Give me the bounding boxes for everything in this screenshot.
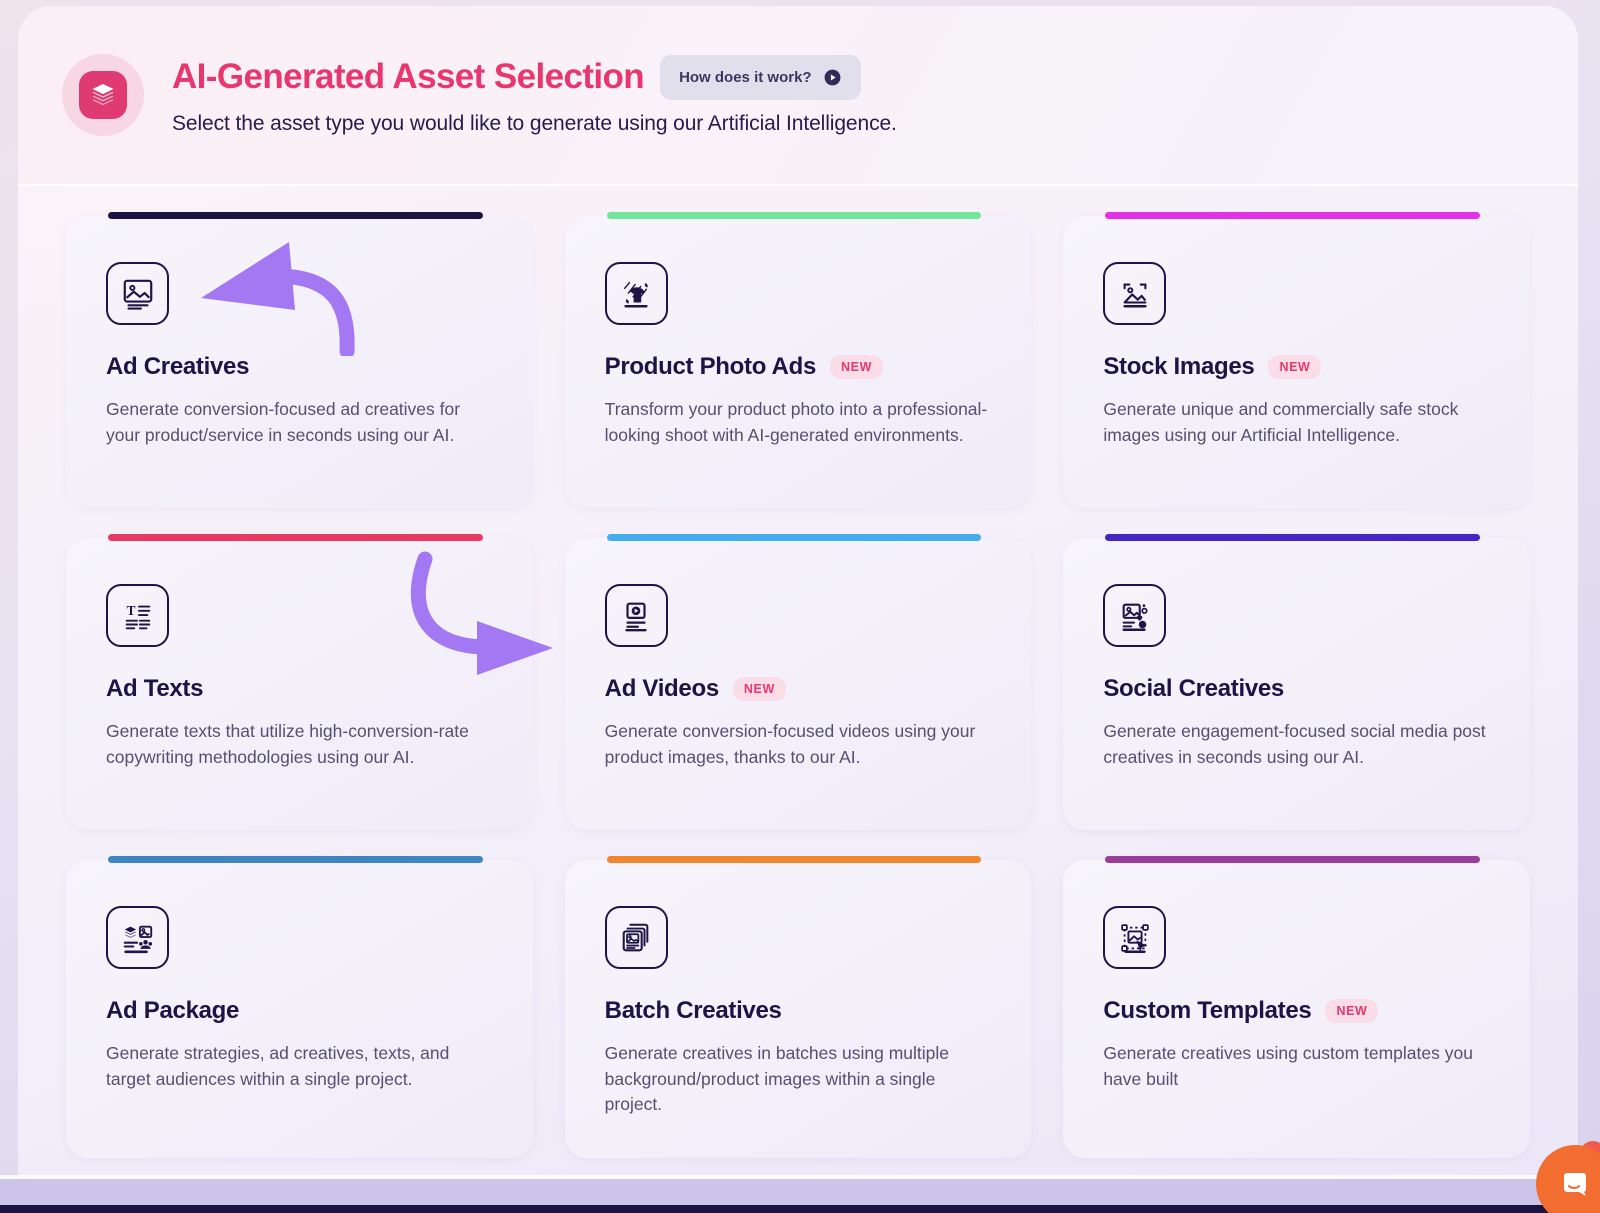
status-badge-new: NEW xyxy=(1325,999,1378,1023)
video-play-icon xyxy=(605,584,668,647)
card-description: Generate texts that utilize high-convers… xyxy=(106,719,493,770)
card-title-row: Stock Images NEW xyxy=(1103,353,1490,381)
template-cursor-icon xyxy=(1103,906,1166,969)
card-description: Generate creatives using custom template… xyxy=(1103,1041,1490,1092)
stacked-images-icon xyxy=(605,906,668,969)
card-title: Ad Package xyxy=(106,997,239,1025)
title-row: AI-Generated Asset Selection How does it… xyxy=(172,55,897,100)
asset-card-ad-videos[interactable]: Ad Videos NEW Generate conversion-focuse… xyxy=(565,538,1032,830)
asset-card-product-photo-ads[interactable]: Product Photo Ads NEW Transform your pro… xyxy=(565,216,1032,508)
card-title-row: Ad Package xyxy=(106,997,493,1025)
bottom-bar xyxy=(0,1205,1600,1213)
app-logo xyxy=(62,54,144,136)
svg-text:T: T xyxy=(126,603,135,618)
play-circle-icon xyxy=(823,68,842,87)
bottom-strip xyxy=(0,1179,1600,1205)
framed-picture-icon xyxy=(1103,262,1166,325)
asset-type-grid: Ad Creatives Generate conversion-focused… xyxy=(66,216,1530,1158)
asset-card-custom-templates[interactable]: Custom Templates NEW Generate creatives … xyxy=(1063,860,1530,1158)
asset-card-ad-package[interactable]: Ad Package Generate strategies, ad creat… xyxy=(66,860,533,1158)
app-panel: AI-Generated Asset Selection How does it… xyxy=(18,6,1578,1178)
status-badge-new: NEW xyxy=(830,355,883,379)
asset-card-batch-creatives[interactable]: Batch Creatives Generate creatives in ba… xyxy=(565,860,1032,1158)
status-badge-new: NEW xyxy=(733,677,786,701)
card-description: Generate conversion-focused ad creatives… xyxy=(106,397,493,448)
card-description: Generate unique and commercially safe st… xyxy=(1103,397,1490,448)
card-description: Generate creatives in batches using mult… xyxy=(605,1041,992,1118)
card-title-row: Social Creatives xyxy=(1103,675,1490,703)
asset-card-ad-creatives[interactable]: Ad Creatives Generate conversion-focused… xyxy=(66,216,533,508)
card-title-row: Custom Templates NEW xyxy=(1103,997,1490,1025)
card-accent-bar xyxy=(1105,534,1480,541)
text-document-icon: T xyxy=(106,584,169,647)
card-description: Generate strategies, ad creatives, texts… xyxy=(106,1041,493,1092)
card-accent-bar xyxy=(607,212,982,219)
card-accent-bar xyxy=(607,856,982,863)
card-title-row: Batch Creatives xyxy=(605,997,992,1025)
card-accent-bar xyxy=(108,856,483,863)
card-title-row: Product Photo Ads NEW xyxy=(605,353,992,381)
asset-card-social-creatives[interactable]: Social Creatives Generate engagement-foc… xyxy=(1063,538,1530,830)
tshirt-photo-icon xyxy=(605,262,668,325)
asset-card-stock-images[interactable]: Stock Images NEW Generate unique and com… xyxy=(1063,216,1530,508)
image-card-icon xyxy=(106,262,169,325)
card-description: Generate engagement-focused social media… xyxy=(1103,719,1490,770)
asset-card-ad-texts[interactable]: T Ad Texts Generate texts that utilize h… xyxy=(66,538,533,830)
layers-stack-icon xyxy=(79,71,127,119)
page-title: AI-Generated Asset Selection xyxy=(172,57,644,97)
card-description: Transform your product photo into a prof… xyxy=(605,397,992,448)
card-title: Custom Templates xyxy=(1103,997,1311,1025)
card-accent-bar xyxy=(1105,212,1480,219)
card-title-row: Ad Creatives xyxy=(106,353,493,381)
card-accent-bar xyxy=(1105,856,1480,863)
card-accent-bar xyxy=(108,534,483,541)
social-post-icon xyxy=(1103,584,1166,647)
how-does-it-work-button[interactable]: How does it work? xyxy=(660,55,861,100)
status-badge-new: NEW xyxy=(1268,355,1321,379)
card-title: Social Creatives xyxy=(1103,675,1284,703)
card-title: Ad Texts xyxy=(106,675,203,703)
card-title: Ad Creatives xyxy=(106,353,249,381)
card-title-row: Ad Texts xyxy=(106,675,493,703)
card-title: Ad Videos xyxy=(605,675,719,703)
header-text-block: AI-Generated Asset Selection How does it… xyxy=(172,55,897,136)
card-title: Batch Creatives xyxy=(605,997,782,1025)
package-grid-icon xyxy=(106,906,169,969)
card-title: Stock Images xyxy=(1103,353,1254,381)
how-does-it-work-label: How does it work? xyxy=(679,69,812,86)
card-title-row: Ad Videos NEW xyxy=(605,675,992,703)
asset-grid-wrapper: Ad Creatives Generate conversion-focused… xyxy=(18,186,1578,1158)
page-subtitle: Select the asset type you would like to … xyxy=(172,112,897,136)
card-description: Generate conversion-focused videos using… xyxy=(605,719,992,770)
card-title: Product Photo Ads xyxy=(605,353,816,381)
card-accent-bar xyxy=(108,212,483,219)
page-header: AI-Generated Asset Selection How does it… xyxy=(18,6,1578,186)
card-accent-bar xyxy=(607,534,982,541)
